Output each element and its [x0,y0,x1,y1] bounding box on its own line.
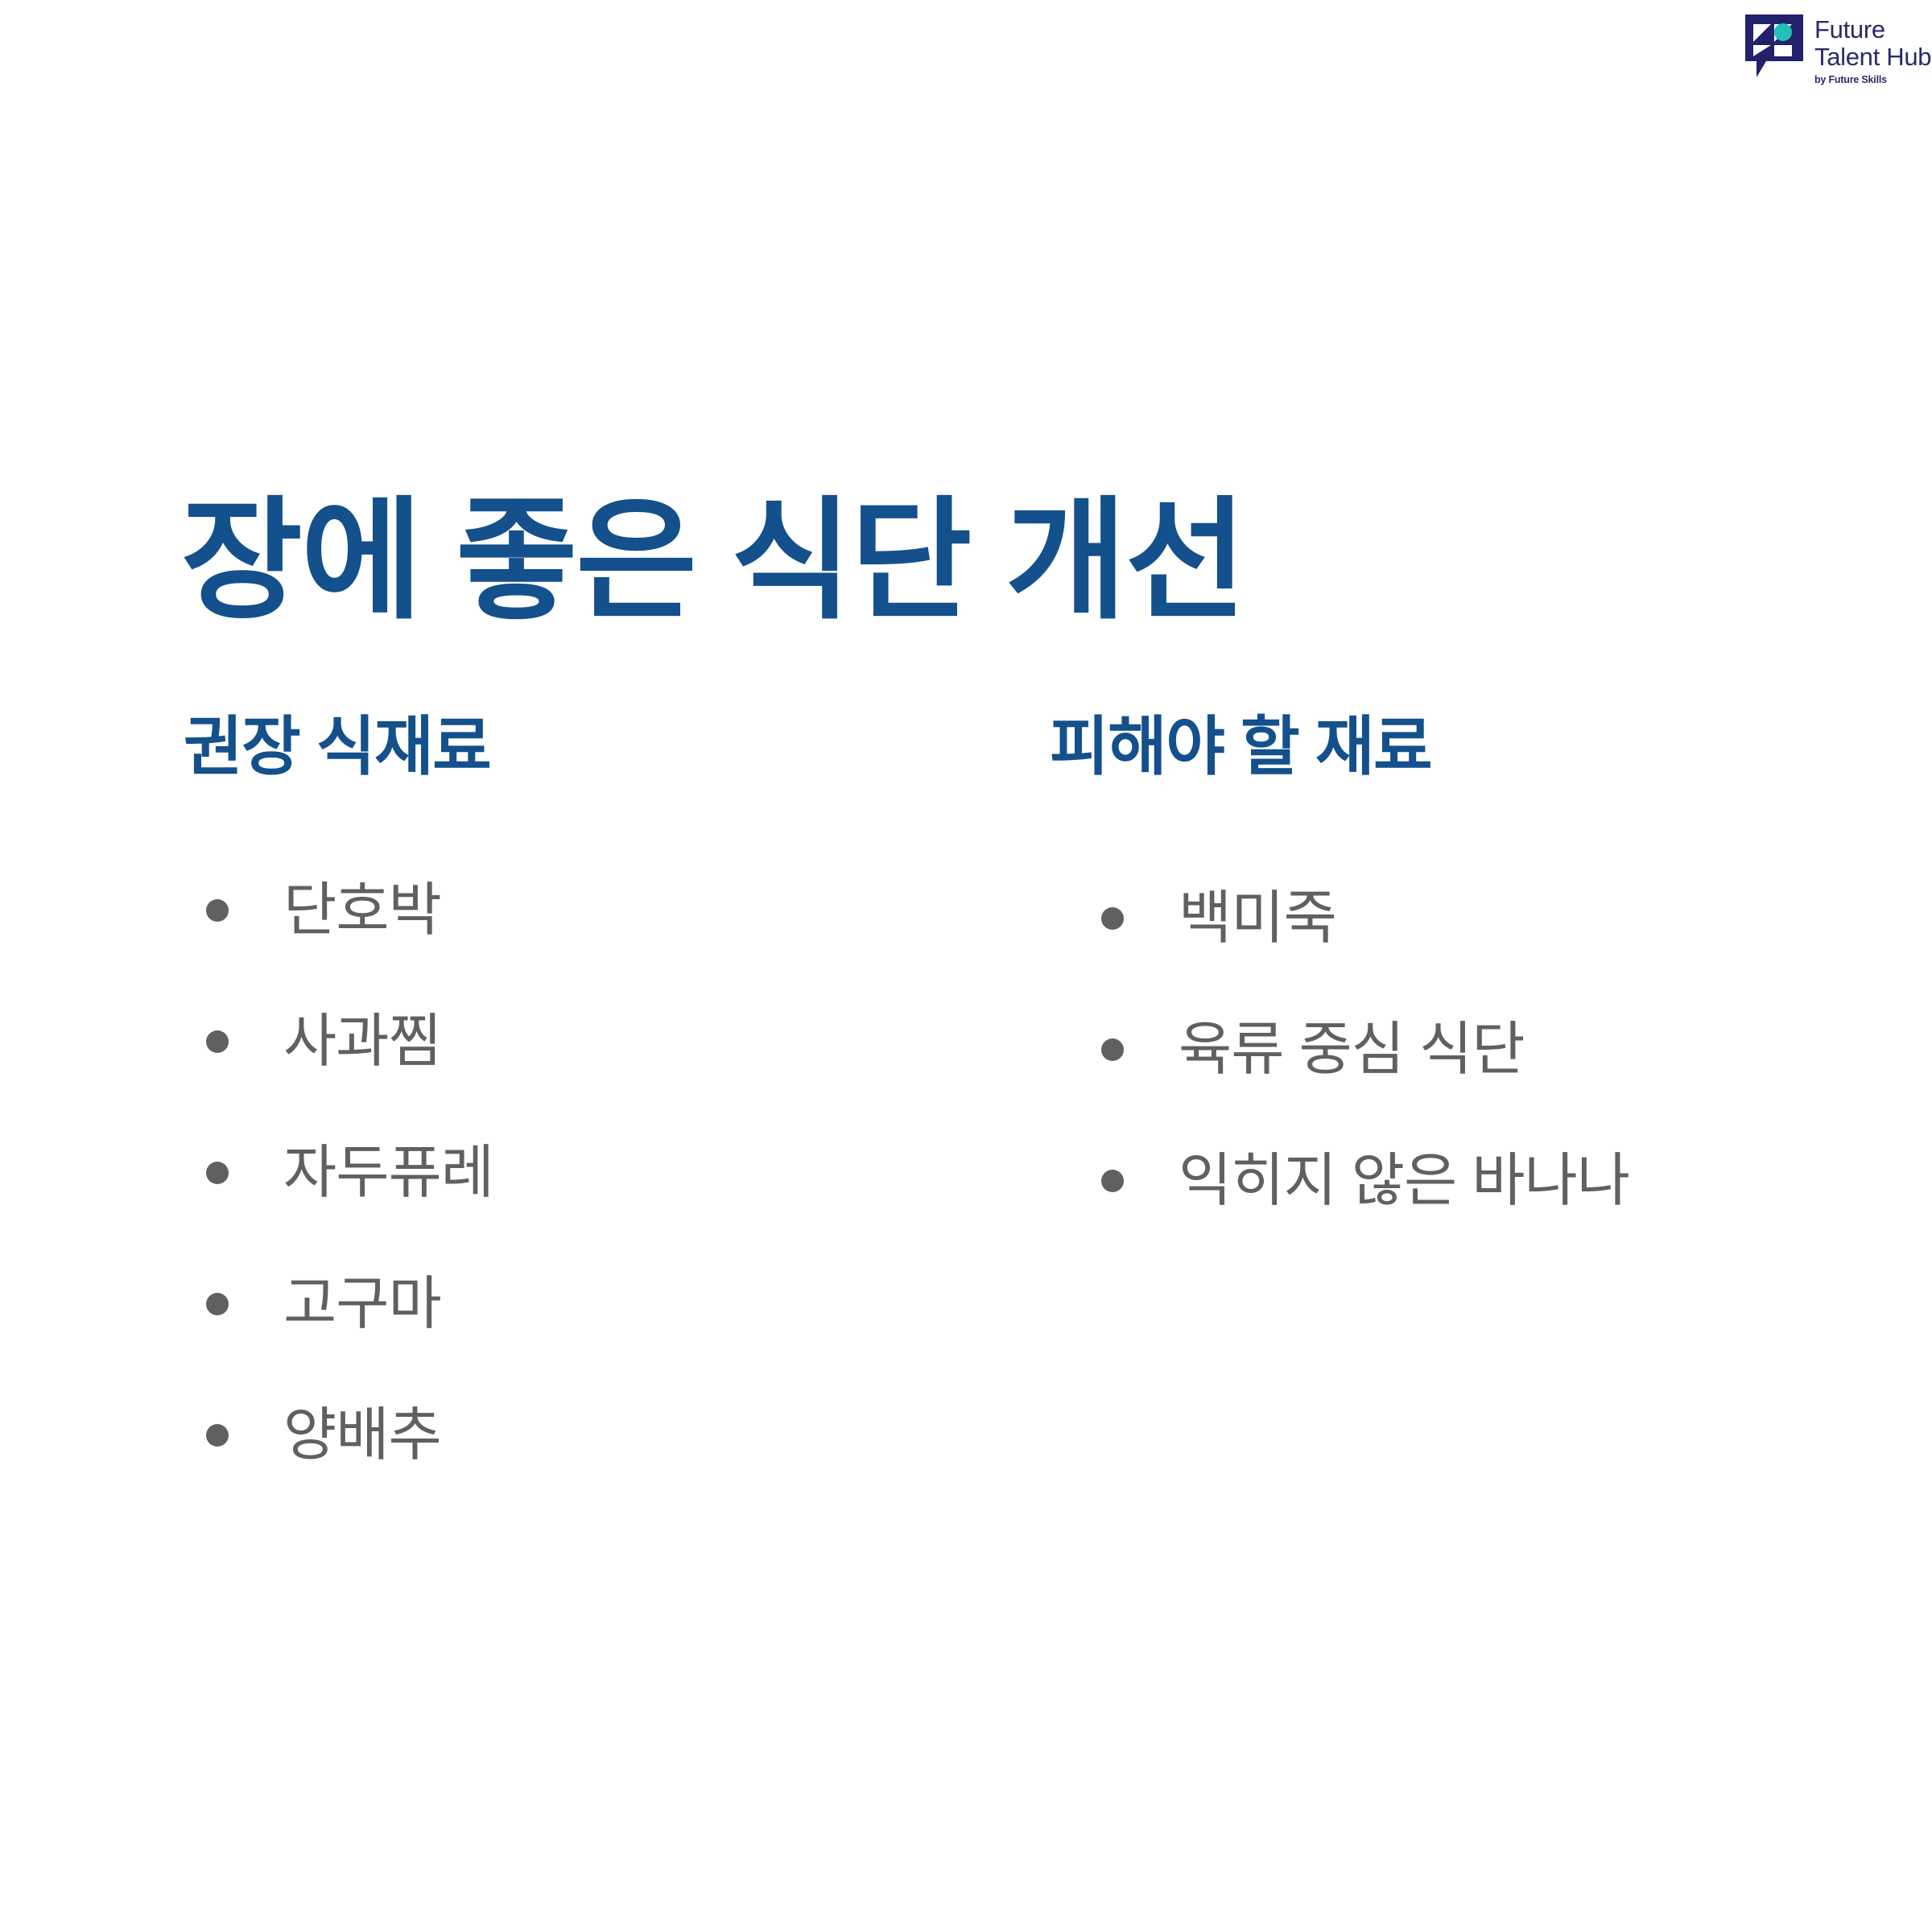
bullet-dot-icon [206,1162,229,1184]
list-item-label: 자두퓨레 [283,1137,493,1209]
brand-line2: Talent Hub [1814,43,1931,71]
bullet-list-recommended: 단호박 사과찜 자두퓨레 고구마 양배추 [184,874,989,1472]
list-item: 고구마 [184,1268,989,1340]
column-heading-avoid: 피해야 할 재료 [1050,708,1851,786]
bullet-dot-icon [206,1424,229,1447]
list-item-label: 육류 중심 식단 [1179,1013,1524,1086]
page-title: 장에 좋은 식단 개선 [181,481,1245,642]
list-item: 자두퓨레 [184,1137,989,1209]
brand-wordmark: Future Talent Hub by Future Skills [1814,14,1931,86]
list-item-label: 단호박 [283,874,441,947]
bullet-dot-icon [206,899,229,922]
bullet-dot-icon [206,1293,229,1315]
bullet-list-avoid: 백미죽 육류 중심 식단 익히지 않은 바나나 [1079,882,1851,1217]
list-item: 익히지 않은 바나나 [1079,1145,1851,1217]
brand-logo: Future Talent Hub by Future Skills [1745,14,1932,99]
list-item: 사과찜 [184,1005,989,1078]
bullet-dot-icon [1101,1170,1124,1192]
list-item: 육류 중심 식단 [1079,1013,1851,1086]
list-item: 단호박 [184,874,989,947]
list-item-label: 사과찜 [283,1005,441,1078]
brand-line1: Future [1814,16,1931,43]
list-item-label: 고구마 [283,1268,441,1340]
list-item-label: 익히지 않은 바나나 [1179,1145,1629,1217]
list-item-label: 백미죽 [1179,882,1336,955]
future-talent-hub-mark-icon [1745,14,1803,77]
bullet-dot-icon [1101,907,1124,930]
bullet-dot-icon [1101,1038,1124,1061]
list-item: 백미죽 [1079,882,1851,955]
bullet-dot-icon [206,1030,229,1053]
list-item: 양배추 [184,1399,989,1472]
column-avoid: 피해야 할 재료 백미죽 육류 중심 식단 익히지 않은 바나나 [1046,708,1851,1276]
list-item-label: 양배추 [283,1399,441,1472]
brand-tagline: by Future Skills [1814,73,1931,86]
slide-canvas: Future Talent Hub by Future Skills 장에 좋은… [0,0,1932,1932]
column-recommended: 권장 식재료 단호박 사과찜 자두퓨레 고구마 [184,708,989,1530]
column-heading-recommended: 권장 식재료 [184,708,989,786]
